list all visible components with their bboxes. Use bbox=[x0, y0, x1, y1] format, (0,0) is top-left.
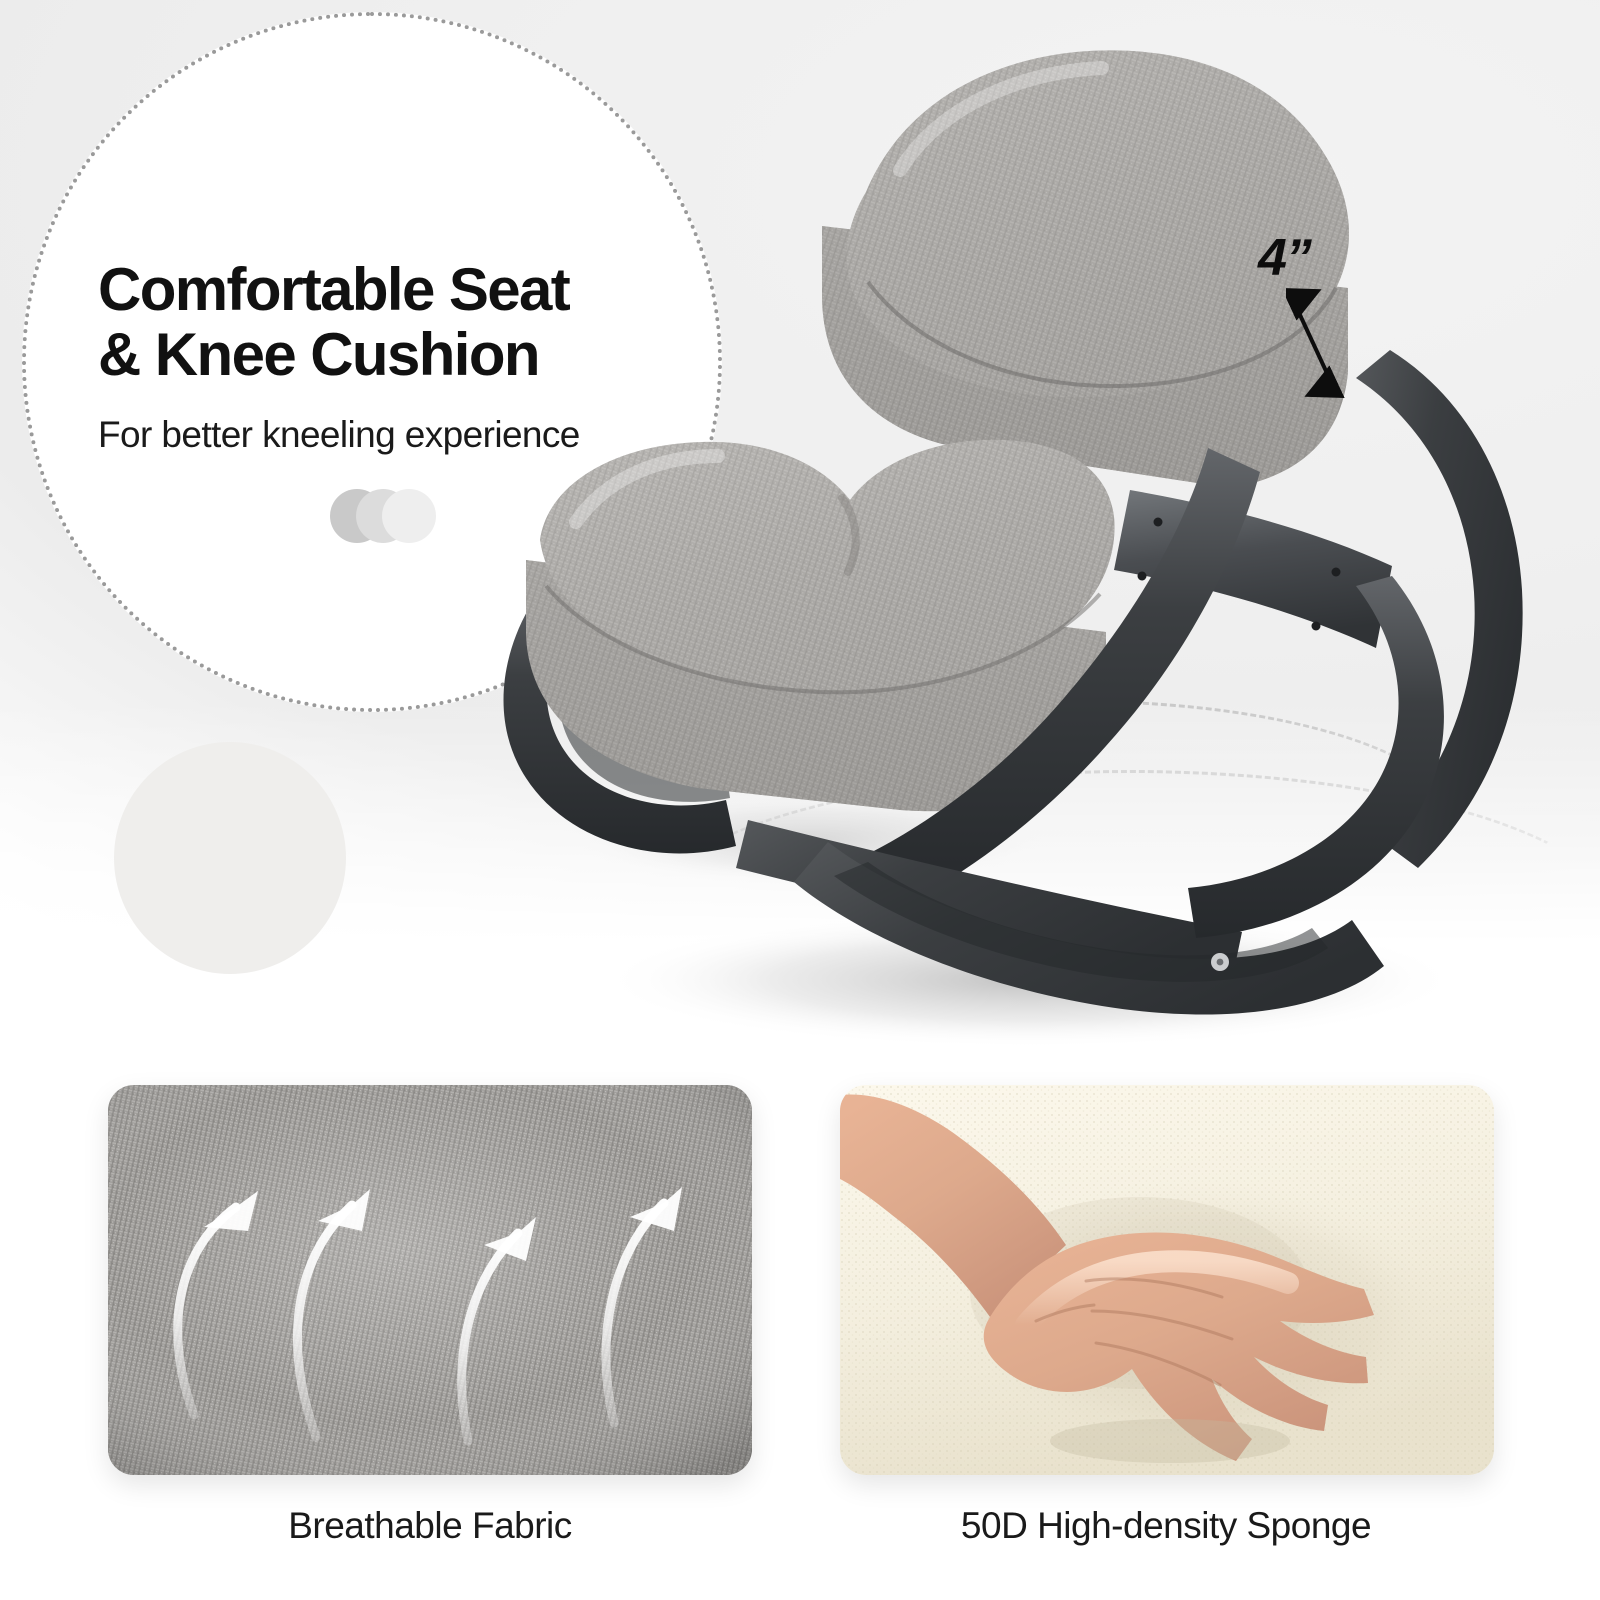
feature-panel-high-density-sponge bbox=[840, 1085, 1494, 1475]
decorative-gray-circle bbox=[114, 742, 346, 974]
caption-breathable-fabric: Breathable Fabric bbox=[100, 1505, 760, 1547]
dimension-arrow bbox=[1286, 288, 1356, 398]
headline-line-2: & Knee Cushion bbox=[98, 323, 718, 388]
subheadline: For better kneeling experience bbox=[98, 414, 718, 456]
decorative-dot-3 bbox=[382, 489, 436, 543]
sponge-hand-image bbox=[840, 1085, 1494, 1475]
headline-block: Comfortable Seat & Knee Cushion For bett… bbox=[98, 258, 718, 456]
headline-line-1: Comfortable Seat bbox=[98, 258, 718, 323]
caption-high-density-sponge: 50D High-density Sponge bbox=[836, 1505, 1496, 1547]
dimension-label-4in: 4” bbox=[1258, 228, 1311, 288]
hero-section: 4” Comfortable Seat & Knee Cushion For b… bbox=[0, 0, 1600, 1045]
fabric-closeup-image bbox=[108, 1085, 752, 1475]
decorative-dots bbox=[330, 489, 500, 547]
product-image bbox=[430, 20, 1600, 1045]
feature-panel-breathable-fabric bbox=[108, 1085, 752, 1475]
